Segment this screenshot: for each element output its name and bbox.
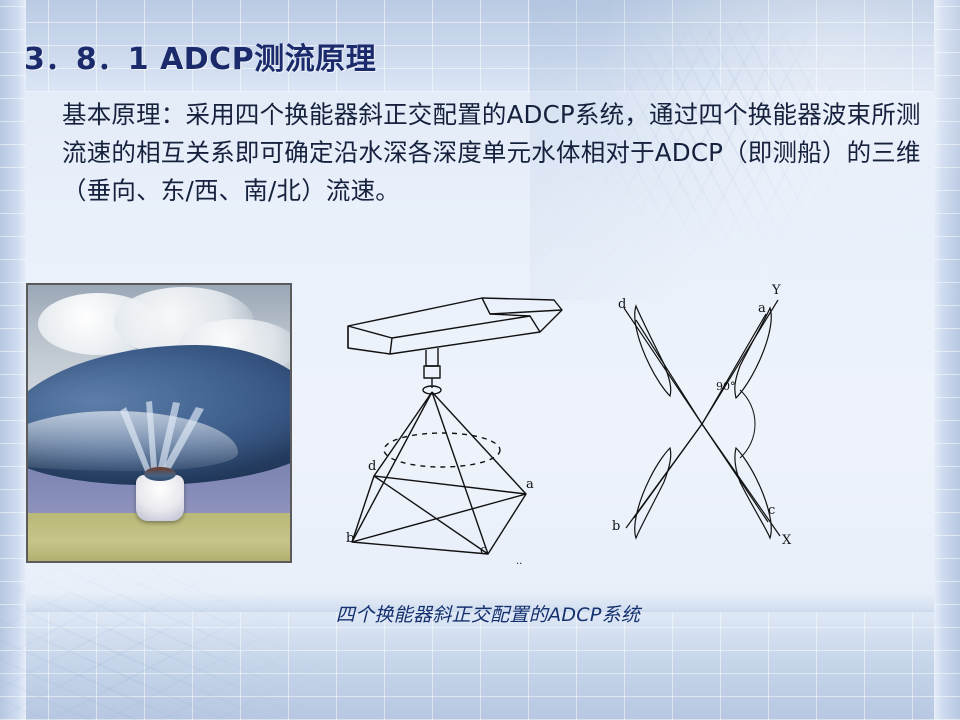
beam-geometry-diagram: Y X a d b c 90° bbox=[590, 278, 820, 568]
svg-text:b: b bbox=[346, 531, 354, 546]
title-area: 3．8．1 ADCP测流原理 bbox=[24, 40, 904, 84]
slide-body-paragraph: 基本原理：采用四个换能器斜正交配置的ADCP系统，通过四个换能器波束所测流速的相… bbox=[62, 96, 922, 210]
svg-text:90°: 90° bbox=[716, 380, 736, 393]
svg-text:a: a bbox=[526, 477, 534, 492]
ship-diagram: d a b c .. bbox=[330, 280, 580, 570]
svg-text:X: X bbox=[782, 533, 792, 548]
background-watermark-bottom-left bbox=[0, 550, 330, 720]
slide-root: 3．8．1 ADCP测流原理 基本原理：采用四个换能器斜正交配置的ADCP系统，… bbox=[0, 0, 960, 720]
figure-caption: 四个换能器斜正交配置的ADCP系统 bbox=[228, 600, 748, 627]
svg-text:a: a bbox=[758, 301, 766, 316]
adcp-photo bbox=[26, 283, 292, 563]
photo-adcp-device bbox=[136, 475, 184, 521]
svg-text:b: b bbox=[612, 519, 620, 534]
svg-text:..: .. bbox=[516, 556, 522, 567]
svg-text:d: d bbox=[368, 459, 376, 474]
svg-text:d: d bbox=[618, 297, 626, 312]
svg-text:Y: Y bbox=[771, 283, 781, 298]
svg-text:c: c bbox=[480, 543, 487, 558]
slide-title: 3．8．1 ADCP测流原理 bbox=[24, 40, 904, 80]
svg-text:c: c bbox=[768, 503, 775, 518]
